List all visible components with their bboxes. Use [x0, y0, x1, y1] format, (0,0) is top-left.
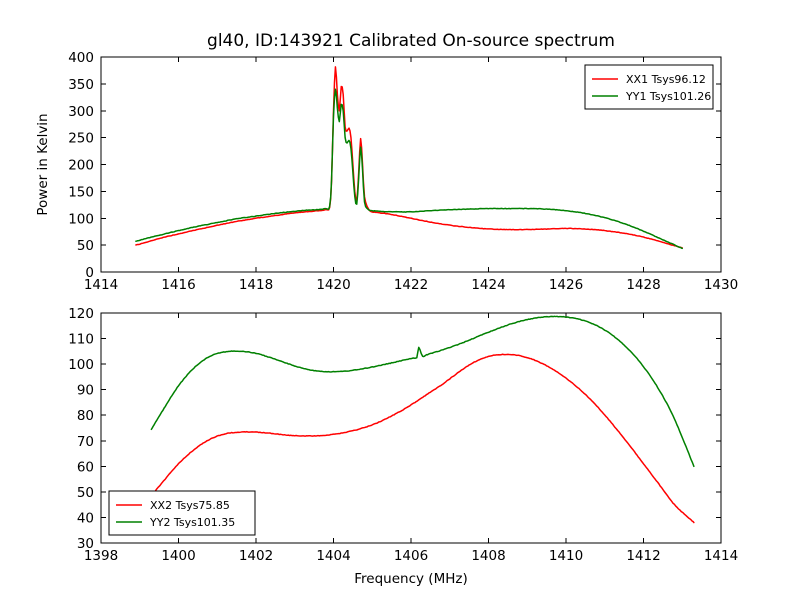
y-tick-label: 50 — [77, 238, 94, 254]
y-tick-label: 350 — [68, 77, 94, 93]
x-tick-label: 1426 — [549, 277, 583, 293]
panel-top: 1414141614181420142214241426142814300501… — [35, 50, 738, 293]
y-tick-label: 50 — [77, 485, 94, 501]
legend-label-yy1: YY1 Tsys101.26 — [625, 90, 711, 103]
figure-canvas: gl40, ID:143921 Calibrated On-source spe… — [0, 0, 800, 600]
y-tick-label: 40 — [77, 510, 94, 526]
x-tick-label: 1424 — [471, 277, 505, 293]
y-tick-label: 110 — [68, 332, 94, 348]
x-tick-label: 1430 — [704, 277, 738, 293]
y-tick-label: 30 — [77, 536, 94, 552]
y-tick-label: 150 — [68, 184, 94, 200]
x-tick-label: 1418 — [239, 277, 273, 293]
legend-label-xx1: XX1 Tsys96.12 — [626, 73, 706, 86]
x-tick-label: 1400 — [161, 548, 195, 564]
legend-label-xx2: XX2 Tsys75.85 — [150, 499, 230, 512]
legend-label-yy2: YY2 Tsys101.35 — [149, 516, 235, 529]
y-tick-label: 250 — [68, 131, 94, 147]
y-tick-label: 200 — [68, 158, 94, 174]
y-tick-label: 120 — [68, 306, 94, 322]
x-tick-label: 1406 — [394, 548, 428, 564]
x-tick-label: 1404 — [316, 548, 350, 564]
y-tick-label: 80 — [77, 408, 94, 424]
x-axis-label: Frequency (MHz) — [354, 571, 467, 587]
series-line-yy2 — [151, 316, 694, 466]
y-tick-label: 90 — [77, 383, 94, 399]
x-tick-label: 1410 — [549, 548, 583, 564]
spectrum-figure: gl40, ID:143921 Calibrated On-source spe… — [0, 0, 800, 600]
y-tick-label: 100 — [68, 357, 94, 373]
x-tick-label: 1408 — [471, 548, 505, 564]
legend-top: XX1 Tsys96.12YY1 Tsys101.26 — [585, 65, 713, 109]
y-tick-label: 300 — [68, 104, 94, 120]
legend-bottom: XX2 Tsys75.85YY2 Tsys101.35 — [109, 491, 255, 535]
x-tick-label: 1412 — [626, 548, 660, 564]
x-tick-label: 1420 — [316, 277, 350, 293]
x-tick-label: 1402 — [239, 548, 273, 564]
x-tick-label: 1414 — [704, 548, 738, 564]
x-tick-label: 1428 — [626, 277, 660, 293]
y-tick-label: 0 — [85, 265, 94, 281]
y-axis-label: Power in Kelvin — [35, 113, 51, 215]
y-tick-label: 400 — [68, 50, 94, 66]
y-tick-label: 100 — [68, 211, 94, 227]
x-tick-label: 1422 — [394, 277, 428, 293]
figure-title: gl40, ID:143921 Calibrated On-source spe… — [207, 31, 615, 51]
panel-bottom: 1398140014021404140614081410141214143040… — [68, 306, 738, 587]
x-tick-label: 1416 — [161, 277, 195, 293]
y-tick-label: 70 — [77, 434, 94, 450]
y-tick-label: 60 — [77, 459, 94, 475]
